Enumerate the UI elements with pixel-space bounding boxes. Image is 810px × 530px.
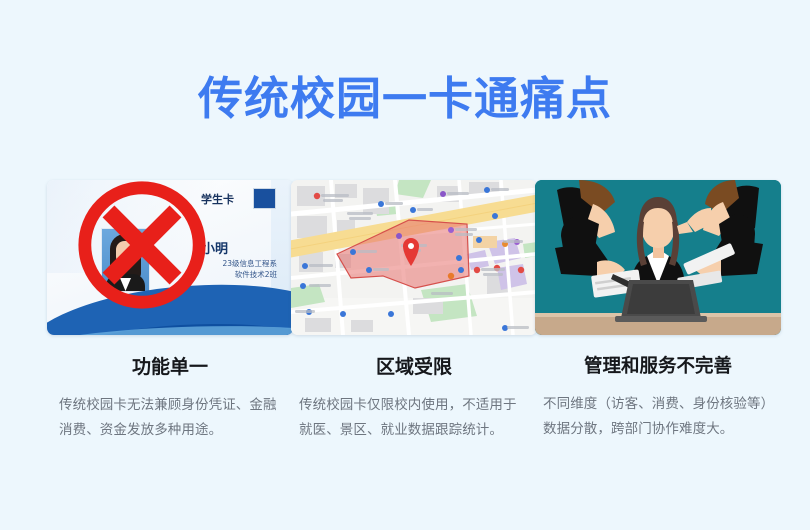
card-heading: 区域受限: [291, 356, 537, 379]
illustration-svg: [535, 180, 781, 335]
slide-root: 传统校园一卡通痛点 学生卡 小明: [0, 0, 810, 530]
map-orange-block: [473, 236, 497, 248]
page-title: 传统校园一卡通痛点: [0, 74, 810, 124]
card-image-student-card: 学生卡 小明 23级信息工程系 软件技术2班: [47, 180, 293, 335]
cards-row: 学生卡 小明 23级信息工程系 软件技术2班: [0, 180, 810, 500]
card-image-illustration: [535, 180, 781, 335]
card-heading: 管理和服务不完善: [535, 356, 781, 378]
card-body-text: 传统校园卡仅限校内使用，不适用于就医、景区、就业数据跟踪统计。: [291, 393, 537, 443]
student-department-line1: 23级信息工程系: [157, 258, 277, 269]
card-heading: 功能单一: [47, 356, 293, 379]
student-photo: [101, 228, 150, 292]
overwhelmed-staff-illustration: [535, 180, 781, 335]
card-image-map: [291, 180, 537, 335]
card-body-text: 传统校园卡无法兼顾身份凭证、金融消费、资金发放多种用途。: [47, 393, 293, 443]
card-area-limited: 区域受限 传统校园卡仅限校内使用，不适用于就医、景区、就业数据跟踪统计。: [291, 180, 537, 443]
photo-face: [116, 241, 135, 266]
student-department-line2: 软件技术2班: [157, 269, 277, 280]
school-logo-icon: [253, 188, 276, 209]
student-card-label: 学生卡: [201, 191, 234, 207]
card-management: 管理和服务不完善 不同维度（访客、消费、身份核验等）数据分散，跨部门协作难度大。: [535, 180, 781, 442]
map-graphic: [291, 180, 537, 335]
laptop: [615, 280, 707, 322]
card-functionality: 学生卡 小明 23级信息工程系 软件技术2班: [47, 180, 293, 443]
student-id-card-graphic: 学生卡 小明 23级信息工程系 软件技术2班: [47, 180, 293, 335]
student-name: 小明: [202, 238, 228, 257]
card-body-text: 不同维度（访客、消费、身份核验等）数据分散，跨部门协作难度大。: [535, 392, 781, 442]
map-svg: [291, 180, 537, 335]
student-department: 23级信息工程系 软件技术2班: [157, 258, 277, 280]
